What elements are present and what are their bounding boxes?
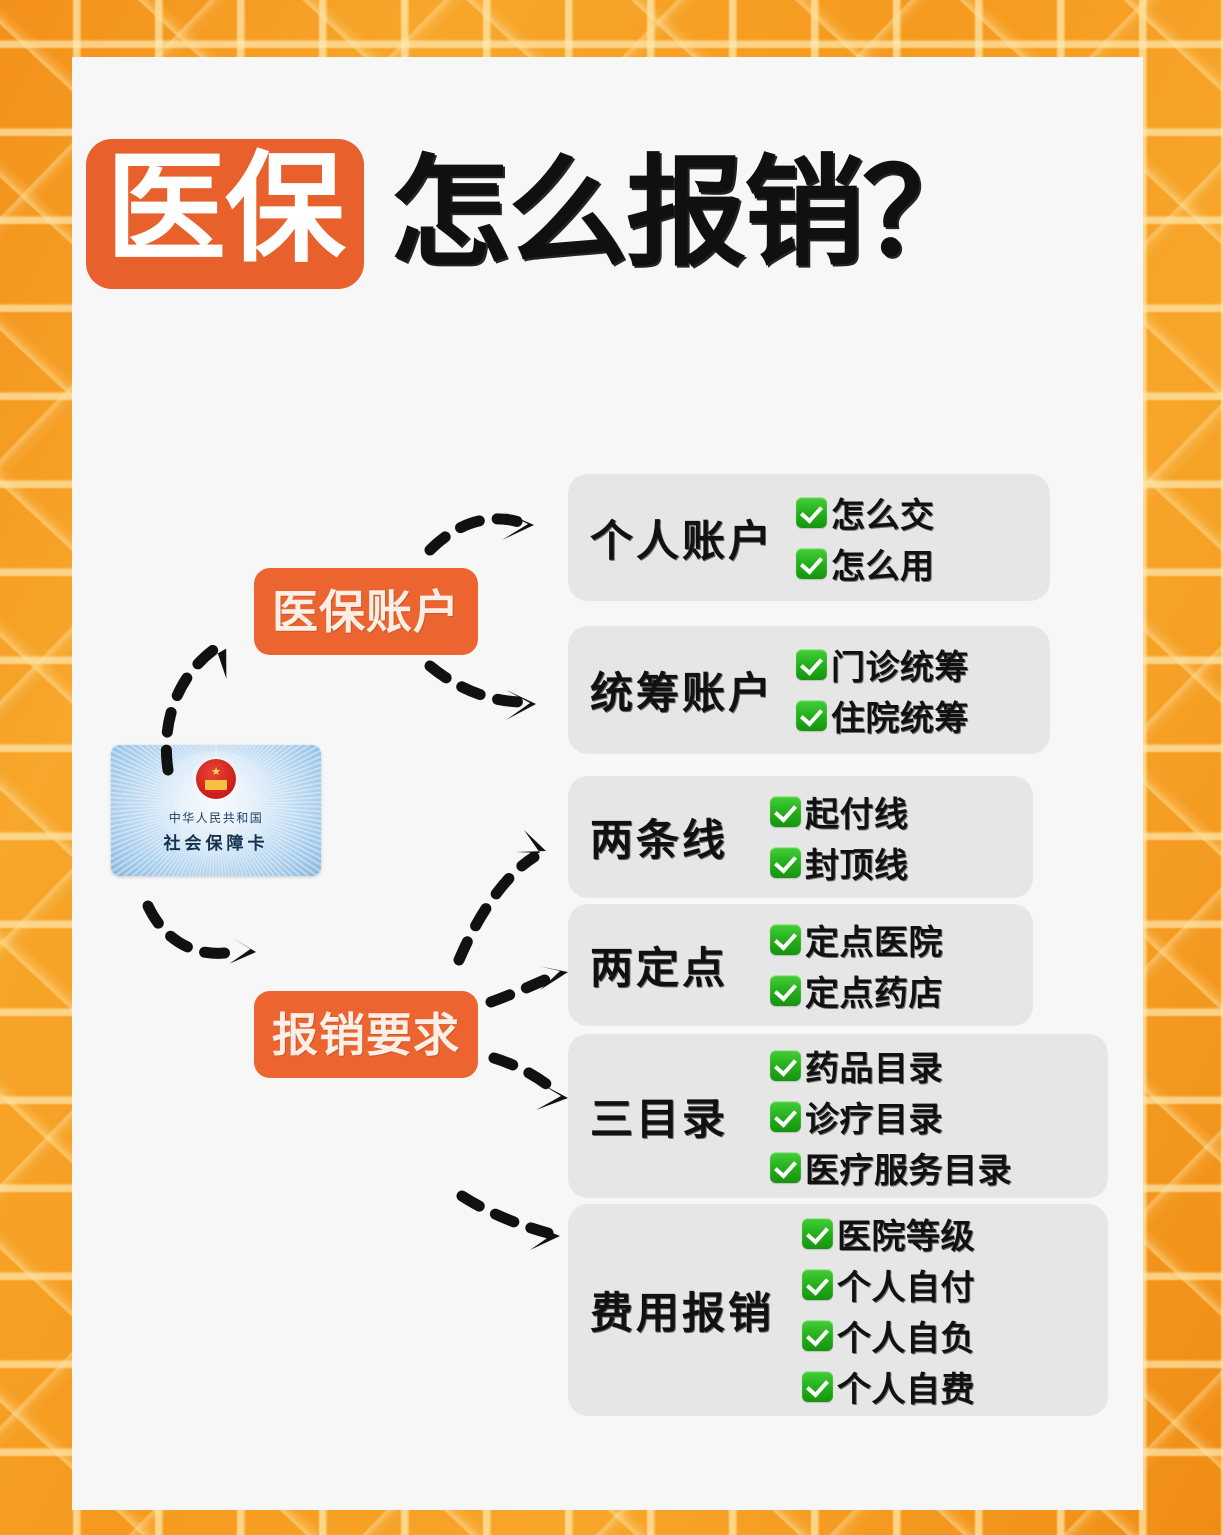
list-item-label: 个人自负 <box>837 1311 975 1360</box>
check-square-icon <box>770 1101 801 1132</box>
list-item-label: 定点药店 <box>805 966 943 1015</box>
check-square-icon <box>796 497 827 528</box>
list-item-label: 医院等级 <box>837 1209 975 1258</box>
list-item-label: 起付线 <box>805 787 909 836</box>
check-square-icon <box>770 847 801 878</box>
check-square-icon <box>802 1269 833 1300</box>
list-item[interactable]: 医院等级 <box>802 1209 975 1258</box>
emblem-star-icon: ★ <box>211 767 221 778</box>
list-item[interactable]: 个人自付 <box>802 1260 975 1309</box>
group-badge-reimbursement-requirements: 报销要求 <box>254 991 478 1078</box>
list-item-label: 住院统筹 <box>831 691 969 740</box>
card-title: 三目录 <box>590 1085 728 1147</box>
list-item[interactable]: 定点医院 <box>770 915 943 964</box>
list-item[interactable]: 封顶线 <box>770 838 909 887</box>
check-square-icon <box>770 975 801 1006</box>
list-item-label: 个人自付 <box>837 1260 975 1309</box>
social-security-card-image: ★ 中华人民共和国 社会保障卡 <box>111 745 321 876</box>
list-item-label: 门诊统筹 <box>831 640 969 689</box>
list-item[interactable]: 个人自费 <box>802 1362 975 1411</box>
card-item-list: 起付线 封顶线 <box>770 786 909 888</box>
check-square-icon <box>802 1218 833 1249</box>
content-card-two-designated-points[interactable]: 两定点 定点医院 定点药店 <box>568 904 1033 1026</box>
list-item[interactable]: 定点药店 <box>770 966 943 1015</box>
card-item-list: 定点医院 定点药店 <box>770 914 943 1016</box>
card-title: 两定点 <box>590 934 728 996</box>
list-item-label: 怎么用 <box>831 539 935 588</box>
list-item-label: 医疗服务目录 <box>805 1143 1012 1192</box>
card-title-line: 社会保障卡 <box>111 829 321 854</box>
list-item-label: 诊疗目录 <box>805 1092 943 1141</box>
card-title: 两条线 <box>590 806 728 868</box>
list-item-label: 怎么交 <box>831 488 935 537</box>
list-item[interactable]: 起付线 <box>770 787 909 836</box>
content-card-pooled-account[interactable]: 统筹账户 门诊统筹 住院统筹 <box>568 626 1050 754</box>
check-square-icon <box>796 548 827 579</box>
content-card-personal-account[interactable]: 个人账户 怎么交 怎么用 <box>568 474 1050 601</box>
card-title: 统筹账户 <box>590 659 774 721</box>
list-item[interactable]: 医疗服务目录 <box>770 1143 1012 1192</box>
list-item-label: 定点医院 <box>805 915 943 964</box>
list-item[interactable]: 住院统筹 <box>796 691 969 740</box>
card-item-list: 门诊统筹 住院统筹 <box>796 639 969 741</box>
list-item[interactable]: 个人自负 <box>802 1311 975 1360</box>
page-title: 医保 怎么报销？ <box>86 139 980 289</box>
list-item[interactable]: 门诊统筹 <box>796 640 969 689</box>
list-item[interactable]: 怎么交 <box>796 488 935 537</box>
poster-background: 医保 怎么报销？ ★ 中华人民共和国 社会保障卡 医保账户 报销要求 <box>0 0 1223 1535</box>
title-text-rest: 怎么报销？ <box>390 151 980 277</box>
national-emblem-icon: ★ <box>196 759 236 799</box>
check-square-icon <box>802 1320 833 1351</box>
content-card-expense-reimbursement[interactable]: 费用报销 医院等级 个人自付 个人自负 个人自费 <box>568 1204 1108 1416</box>
check-square-icon <box>770 1152 801 1183</box>
list-item[interactable]: 药品目录 <box>770 1041 1012 1090</box>
card-item-list: 怎么交 怎么用 <box>796 487 935 589</box>
check-square-icon <box>796 649 827 680</box>
card-title: 个人账户 <box>590 507 774 569</box>
list-item[interactable]: 诊疗目录 <box>770 1092 1012 1141</box>
card-item-list: 医院等级 个人自付 个人自负 个人自费 <box>802 1208 975 1412</box>
check-square-icon <box>796 700 827 731</box>
list-item-label: 药品目录 <box>805 1041 943 1090</box>
group-badge-medical-insurance-account: 医保账户 <box>254 568 478 655</box>
card-title: 费用报销 <box>590 1279 774 1341</box>
list-item-label: 个人自费 <box>837 1362 975 1411</box>
content-card-two-lines[interactable]: 两条线 起付线 封顶线 <box>568 776 1033 898</box>
check-square-icon <box>770 924 801 955</box>
check-square-icon <box>802 1371 833 1402</box>
check-square-icon <box>770 1050 801 1081</box>
card-item-list: 药品目录 诊疗目录 医疗服务目录 <box>770 1040 1012 1193</box>
list-item-label: 封顶线 <box>805 838 909 887</box>
emblem-gate-icon <box>205 780 227 790</box>
card-country-line: 中华人民共和国 <box>111 809 321 826</box>
list-item[interactable]: 怎么用 <box>796 539 935 588</box>
check-square-icon <box>770 796 801 827</box>
content-card-three-catalogs[interactable]: 三目录 药品目录 诊疗目录 医疗服务目录 <box>568 1034 1108 1198</box>
title-badge-yibao: 医保 <box>86 139 364 289</box>
